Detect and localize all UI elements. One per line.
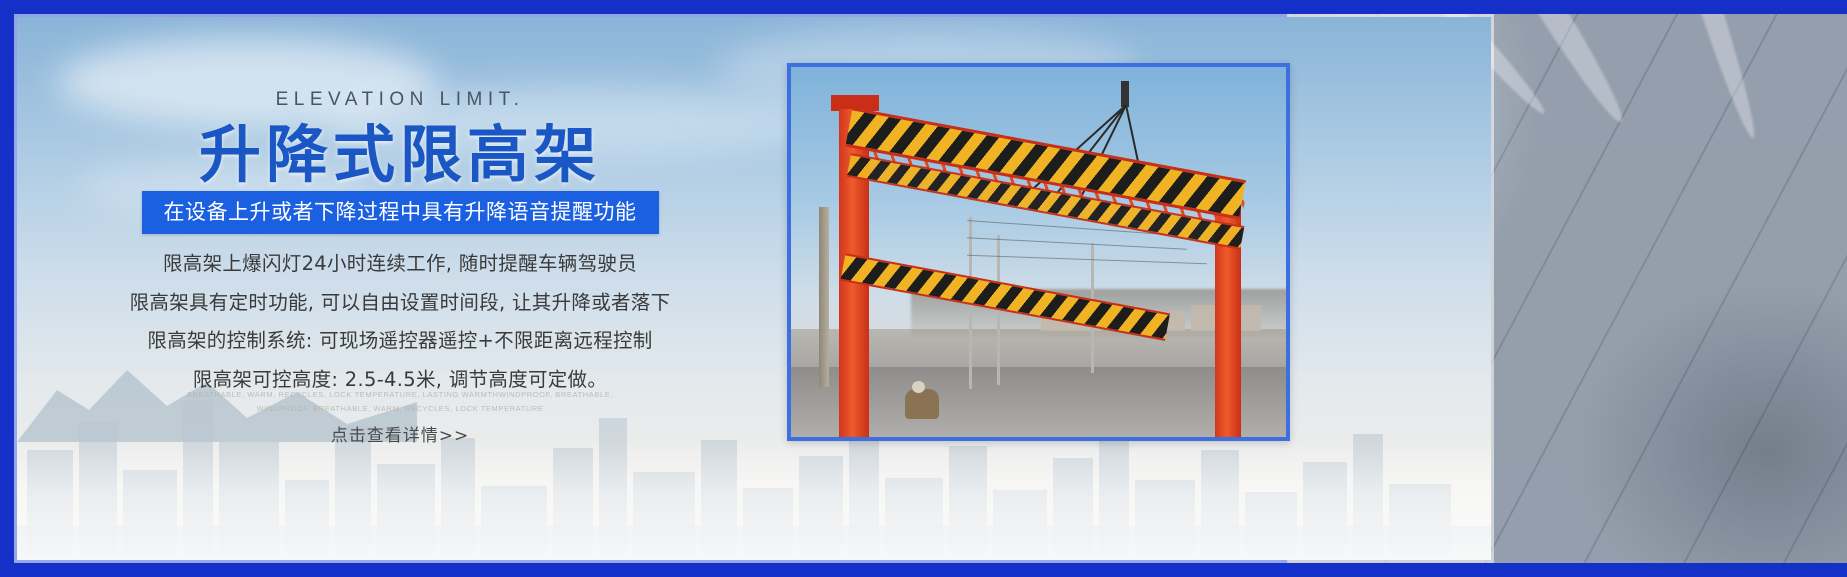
banner-stage: ELEVATION LIMIT. 升降式限高架 在设备上升或者下降过程中具有升降…	[17, 17, 1491, 560]
highlight-bar-wrapper: 在设备上升或者下降过程中具有升降语音提醒功能	[17, 191, 783, 234]
feature-list: 限高架上爆闪灯24小时连续工作, 随时提醒车辆驾驶员 限高架具有定时功能, 可以…	[17, 248, 783, 402]
feature-item: 限高架上爆闪灯24小时连续工作, 随时提醒车辆驾驶员	[17, 248, 783, 280]
feature-item: 限高架具有定时功能, 可以自由设置时间段, 让其升降或者落下	[17, 287, 783, 319]
watermark-text: BREATHABLE, WARM, RECYCLES, LOCK TEMPERA…	[17, 388, 783, 416]
english-subtitle: ELEVATION LIMIT.	[17, 89, 783, 111]
decorative-streak	[1641, 0, 1764, 141]
worker-figure	[905, 389, 939, 419]
watermark-line: WINDPROOF, BREATHABLE, WARM, RECYCLES, L…	[17, 402, 783, 416]
watermark-line: BREATHABLE, WARM, RECYCLES, LOCK TEMPERA…	[17, 388, 783, 402]
promo-banner: ELEVATION LIMIT. 升降式限高架 在设备上升或者下降过程中具有升降…	[0, 0, 1847, 577]
bare-tree	[819, 207, 829, 387]
view-details-link[interactable]: 点击查看详情>>	[17, 421, 783, 446]
highlight-banner-text: 在设备上升或者下降过程中具有升降语音提醒功能	[142, 191, 659, 234]
feature-item: 限高架的控制系统: 可现场遥控器遥控+不限距离远程控制	[17, 325, 783, 357]
page-title: 升降式限高架	[17, 118, 783, 191]
banner-text-column: ELEVATION LIMIT. 升降式限高架 在设备上升或者下降过程中具有升降…	[17, 17, 807, 560]
product-photo[interactable]	[787, 63, 1290, 441]
